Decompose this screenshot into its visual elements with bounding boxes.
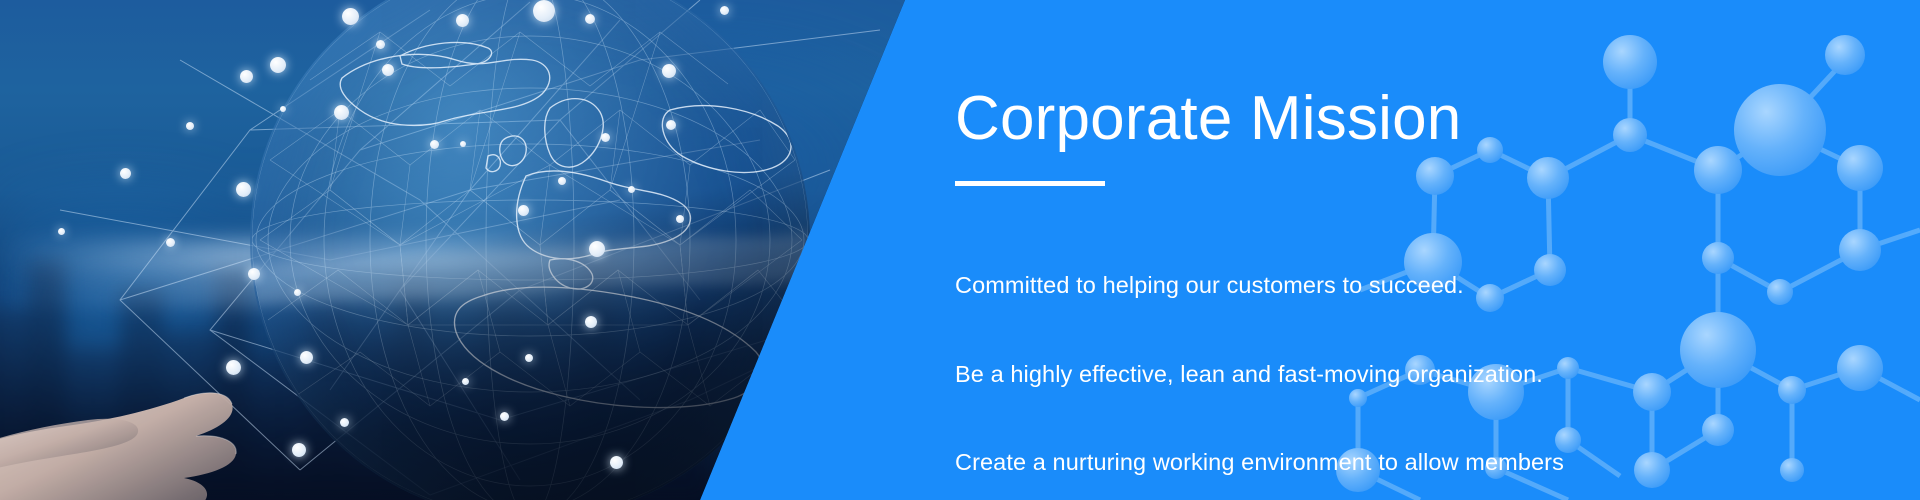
network-node bbox=[186, 122, 194, 130]
network-node bbox=[270, 57, 286, 73]
network-node bbox=[342, 8, 359, 25]
network-node bbox=[662, 64, 676, 78]
network-node bbox=[585, 316, 597, 328]
mission-statement: Committed to helping our customers to su… bbox=[955, 212, 1775, 500]
network-node bbox=[240, 70, 253, 83]
network-node bbox=[666, 120, 676, 130]
network-node bbox=[248, 268, 260, 280]
network-node bbox=[601, 133, 610, 142]
molecule-sphere bbox=[1603, 35, 1657, 89]
network-node bbox=[525, 354, 533, 362]
network-node bbox=[610, 456, 623, 469]
network-node bbox=[292, 443, 306, 457]
network-node bbox=[166, 238, 175, 247]
network-node bbox=[456, 14, 469, 27]
network-node bbox=[340, 418, 349, 427]
network-node bbox=[500, 412, 509, 421]
molecule-sphere bbox=[1837, 145, 1883, 191]
network-node bbox=[236, 182, 251, 197]
molecule-sphere bbox=[1780, 458, 1804, 482]
hand-silhouette bbox=[0, 250, 390, 500]
network-node bbox=[300, 351, 313, 364]
network-node bbox=[58, 228, 65, 235]
network-node bbox=[334, 105, 349, 120]
network-node bbox=[226, 360, 241, 375]
network-node bbox=[589, 241, 605, 257]
hero-photo-panel bbox=[0, 0, 960, 500]
network-node bbox=[378, 42, 384, 48]
page-title: Corporate Mission bbox=[955, 88, 1775, 150]
network-node bbox=[382, 64, 394, 76]
network-node bbox=[676, 215, 684, 223]
network-node bbox=[628, 186, 635, 193]
network-node bbox=[430, 140, 439, 149]
network-node bbox=[120, 168, 131, 179]
network-node bbox=[720, 6, 729, 15]
title-divider-rule bbox=[955, 181, 1105, 186]
molecule-sphere bbox=[1778, 376, 1806, 404]
network-node bbox=[460, 141, 466, 147]
molecule-sphere bbox=[1825, 35, 1865, 75]
mission-line: Be a highly effective, lean and fast-mov… bbox=[955, 360, 1775, 390]
network-node bbox=[533, 0, 555, 22]
molecule-sphere bbox=[1839, 229, 1881, 271]
mission-line: Committed to helping our customers to su… bbox=[955, 271, 1775, 301]
network-node bbox=[558, 177, 566, 185]
network-node bbox=[280, 106, 286, 112]
corporate-mission-banner: Corporate Mission Committed to helping o… bbox=[0, 0, 1920, 500]
network-node bbox=[585, 14, 595, 24]
mission-line: Create a nurturing working environment t… bbox=[955, 448, 1775, 478]
mission-copy-block: Corporate Mission Committed to helping o… bbox=[955, 88, 1775, 500]
network-node bbox=[518, 205, 529, 216]
molecule-sphere bbox=[1837, 345, 1883, 391]
network-node bbox=[294, 289, 301, 296]
network-node bbox=[462, 378, 469, 385]
